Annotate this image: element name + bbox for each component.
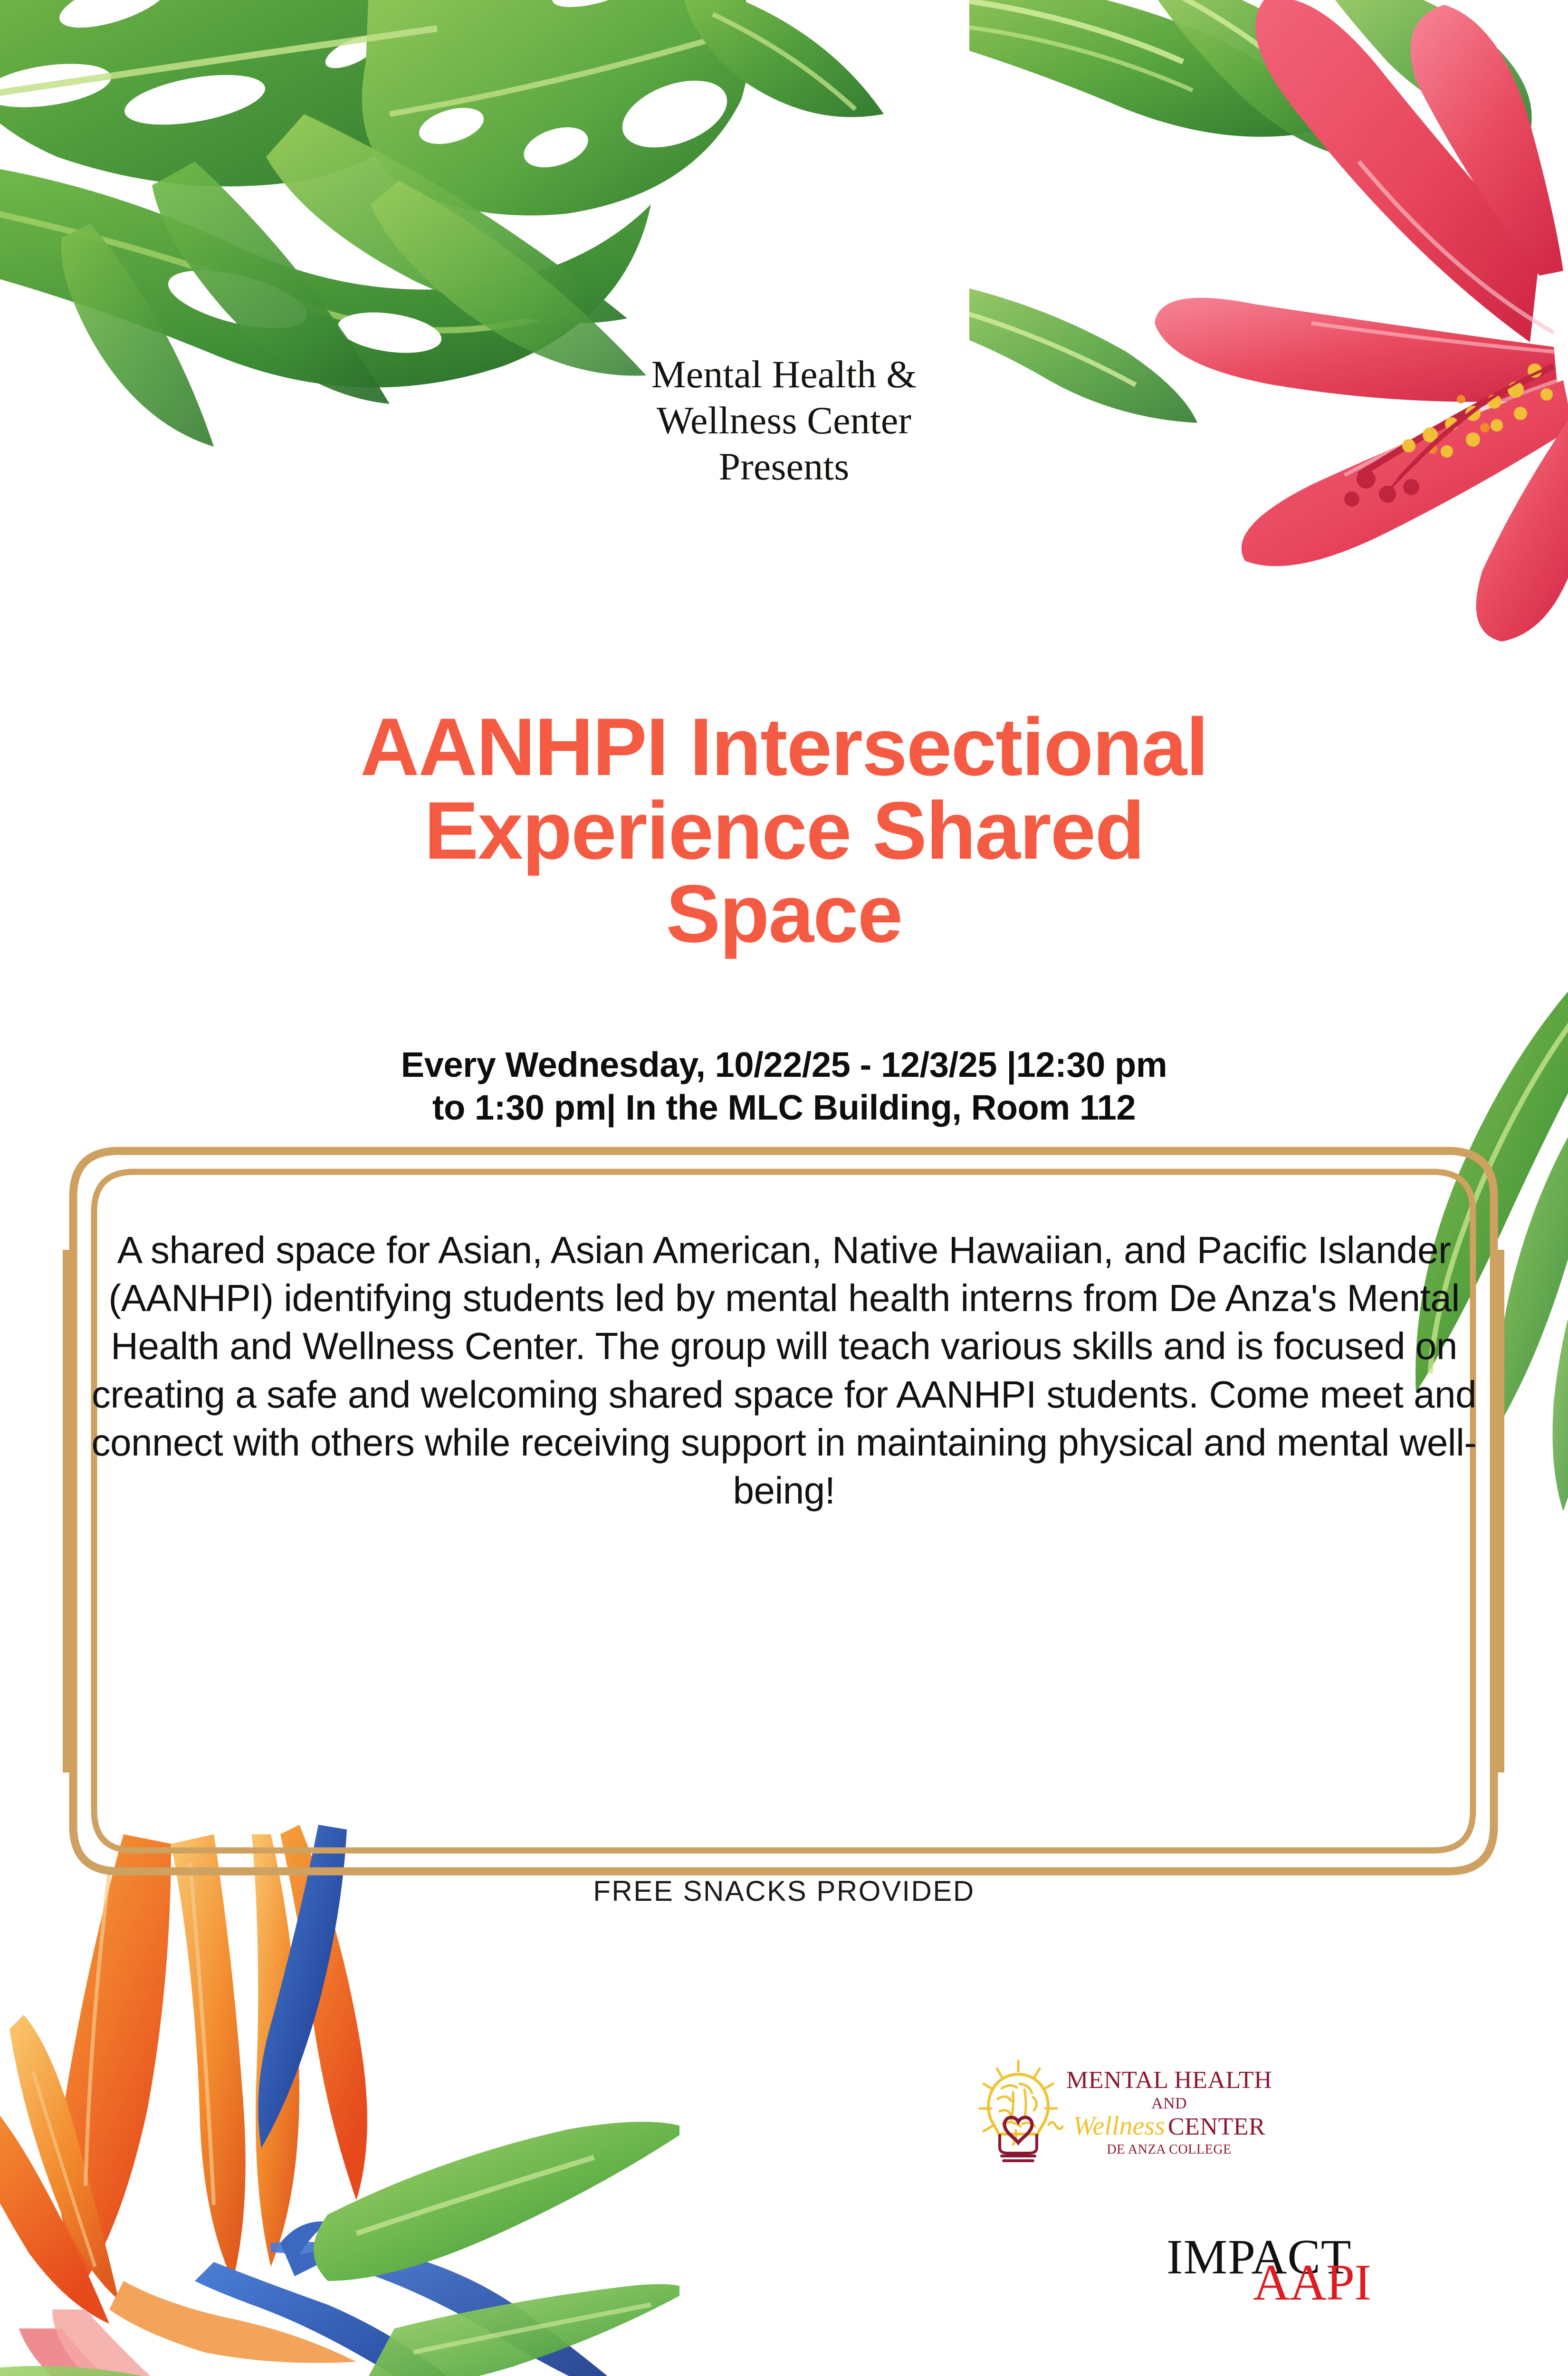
title-line-3: Space <box>62 872 1506 956</box>
mhwc-wellness-word: Wellness <box>1073 2113 1165 2139</box>
schedule-line-2: to 1:30 pm| In the MLC Building, Room 11… <box>119 1086 1449 1129</box>
event-schedule: Every Wednesday, 10/22/25 - 12/3/25 |12:… <box>119 1044 1449 1130</box>
bird-of-paradise-art <box>0 1825 679 2376</box>
impact-aapi-logo: IMPACT AAPI <box>1166 2229 1414 2314</box>
mhwc-line-2: AND <box>1151 2096 1187 2112</box>
presenter-line-3: Presents <box>0 444 1568 490</box>
aapi-word: AAPI <box>1253 2253 1371 2312</box>
lightbulb-brain-heart-icon <box>973 2059 1063 2166</box>
mhwc-line-1: MENTAL HEALTH <box>1066 2068 1272 2093</box>
presenter-line-2: Wellness Center <box>0 398 1568 444</box>
mhwc-center-word: CENTER <box>1168 2115 1265 2139</box>
snacks-note: FREE SNACKS PROVIDED <box>0 1875 1568 1907</box>
schedule-line-1: Every Wednesday, 10/22/25 - 12/3/25 |12:… <box>119 1044 1449 1086</box>
hibiscus-flower-art <box>969 0 1568 675</box>
title-line-2: Experience Shared <box>62 789 1506 872</box>
mental-health-wellness-center-logo: MENTAL HEALTH AND Wellness CENTER DE ANZ… <box>973 2058 1315 2167</box>
presenter-heading: Mental Health & Wellness Center Presents <box>0 352 1568 489</box>
mhwc-line-4: DE ANZA COLLEGE <box>1107 2143 1232 2156</box>
presenter-line-1: Mental Health & <box>0 352 1568 398</box>
title-line-1: AANHPI Intersectional <box>62 706 1506 789</box>
description-text: A shared space for Asian, Asian American… <box>81 1226 1487 1514</box>
poster-canvas: Mental Health & Wellness Center Presents… <box>0 0 1568 2376</box>
page-title: AANHPI Intersectional Experience Shared … <box>62 706 1506 956</box>
